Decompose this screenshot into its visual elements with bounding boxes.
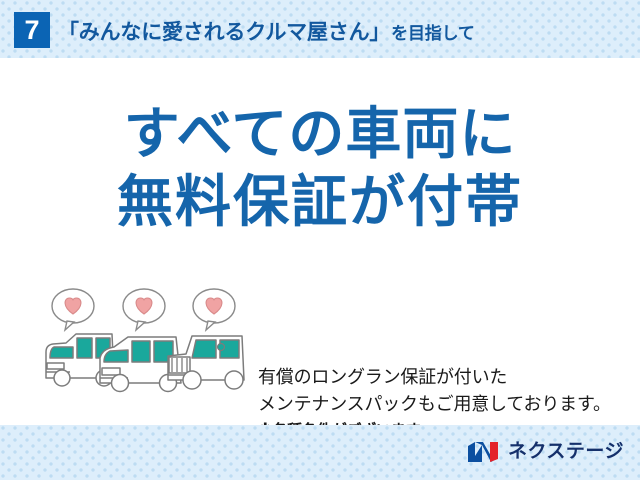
headline-line-2: 無料保証が付帯 bbox=[0, 168, 640, 236]
header-title-main: 「みんなに愛されるクルマ屋さん」 bbox=[58, 16, 390, 46]
brand-logo: ネクステージ bbox=[467, 440, 624, 464]
cars-with-hearts-illustration bbox=[40, 286, 250, 398]
content-panel: すべての車両に 無料保証が付帯 bbox=[0, 58, 640, 425]
section-number-badge: 7 bbox=[14, 12, 50, 48]
car-wheel bbox=[112, 375, 129, 392]
car-wheel bbox=[54, 370, 70, 386]
nextage-n-mark-icon bbox=[467, 440, 501, 464]
body-copy-line-1: 有償のロングラン保証が付いた bbox=[258, 364, 630, 391]
headline-line-1: すべての車両に bbox=[0, 100, 640, 168]
promo-banner: 7 「みんなに愛されるクルマ屋さん」を目指して すべての車両に 無料保証が付帯 bbox=[0, 0, 640, 480]
lower-section: 有償のロングラン保証が付いた メンテナンスパックもご用意しております。 ※各種条… bbox=[0, 286, 640, 411]
header-title: 「みんなに愛されるクルマ屋さん」を目指して bbox=[58, 14, 475, 48]
body-copy-line-2: メンテナンスパックもご用意しております。 bbox=[258, 391, 630, 418]
illustration-svg bbox=[40, 286, 250, 398]
car-wheel bbox=[183, 371, 201, 389]
headline: すべての車両に 無料保証が付帯 bbox=[0, 100, 640, 236]
brand-name: ネクステージ bbox=[508, 440, 624, 464]
car-wheel bbox=[225, 371, 243, 389]
header-title-tail: を目指して bbox=[390, 19, 475, 44]
